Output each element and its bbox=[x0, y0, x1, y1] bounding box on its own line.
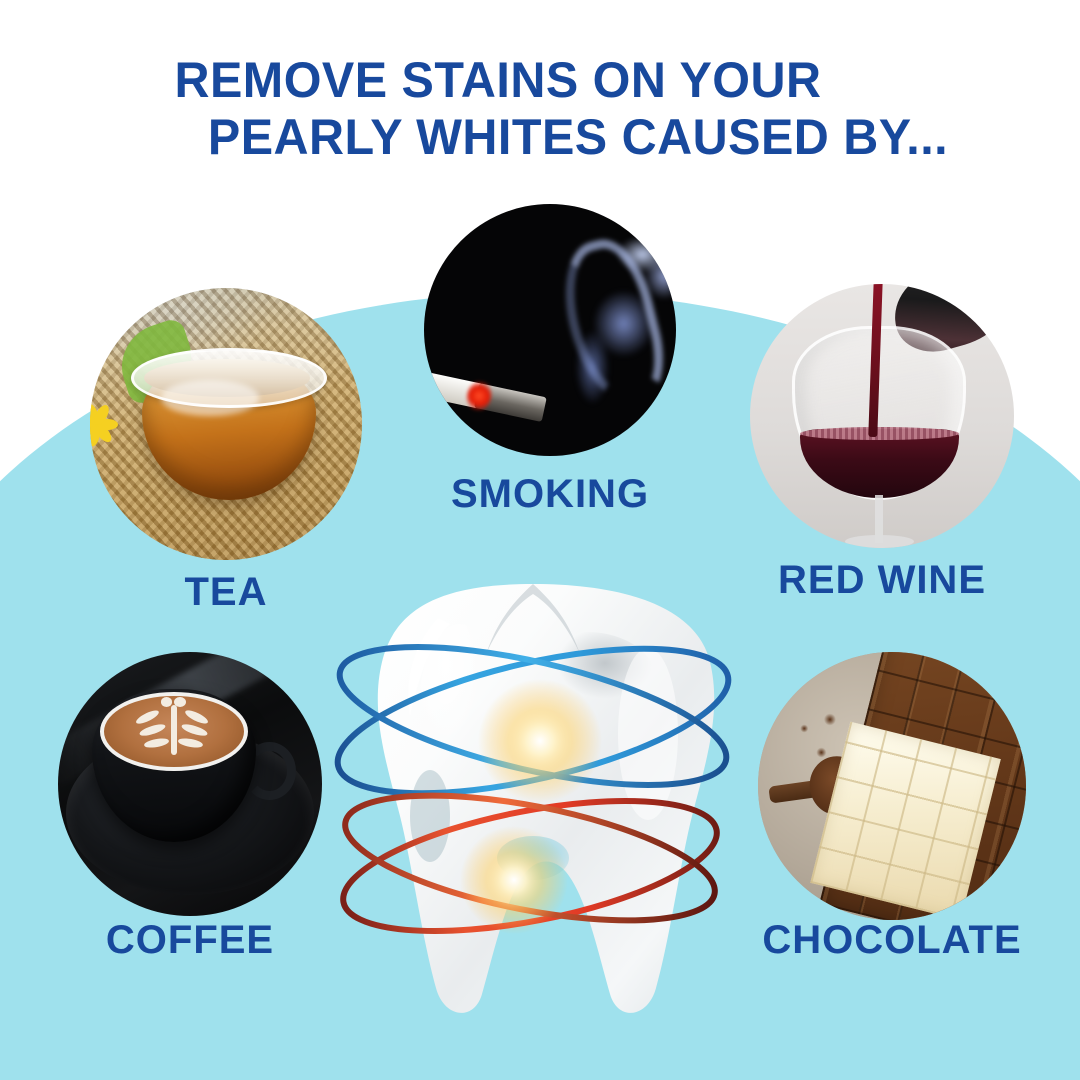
sparkle-lower bbox=[460, 826, 568, 934]
sparkle-upper bbox=[478, 679, 602, 803]
tile-label-red-wine: RED WINE bbox=[778, 558, 986, 603]
tile-chocolate[interactable]: CHOCOLATE bbox=[758, 652, 1026, 920]
tile-smoking[interactable]: SMOKING bbox=[424, 204, 676, 456]
tooth-with-orbit-rings bbox=[318, 566, 748, 1036]
tile-label-chocolate: CHOCOLATE bbox=[762, 918, 1021, 963]
tile-label-smoking: SMOKING bbox=[451, 472, 649, 517]
infographic-canvas: REMOVE STAINS ON YOUR PEARLY WHITES CAUS… bbox=[0, 0, 1080, 1080]
headline-line-2: PEARLY WHITES CAUSED BY... bbox=[54, 109, 1080, 166]
tile-coffee[interactable]: COFFEE bbox=[58, 652, 322, 916]
coffee-cup-photo bbox=[58, 652, 322, 916]
tile-label-tea: TEA bbox=[185, 570, 268, 615]
tea-cup-photo bbox=[90, 288, 362, 560]
tile-wine[interactable]: RED WINE bbox=[750, 284, 1014, 548]
chocolate-bars-photo bbox=[758, 652, 1026, 920]
page-title: REMOVE STAINS ON YOUR PEARLY WHITES CAUS… bbox=[0, 52, 1080, 166]
wine-glass-photo bbox=[750, 284, 1014, 548]
tile-label-coffee: COFFEE bbox=[106, 918, 274, 963]
latte-art-icon bbox=[132, 700, 216, 763]
cigarette-smoke-photo bbox=[424, 204, 676, 456]
flower-decor bbox=[90, 413, 144, 473]
tile-tea[interactable]: TEA bbox=[90, 288, 362, 560]
headline-line-1: REMOVE STAINS ON YOUR bbox=[0, 52, 1022, 109]
